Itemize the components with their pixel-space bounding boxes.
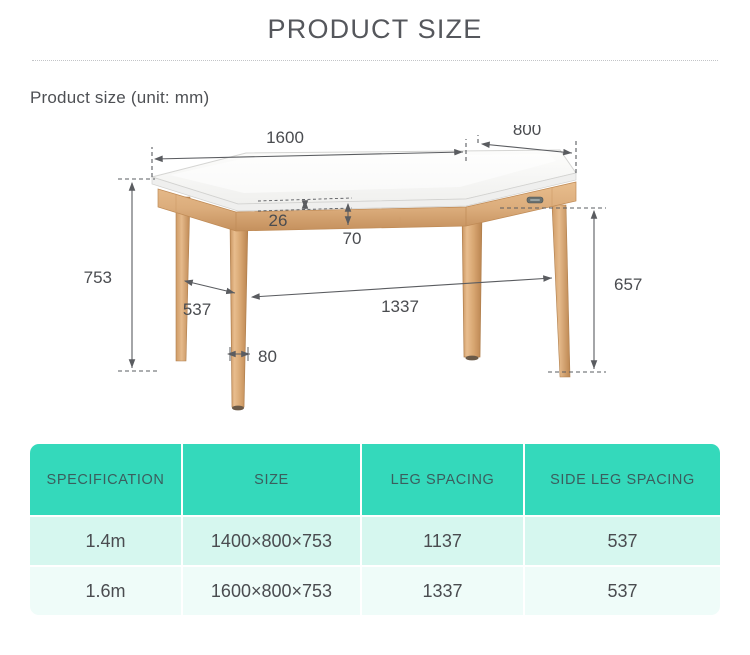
title-divider [32, 60, 718, 61]
cell-leg-spacing: 1337 [362, 565, 525, 615]
cell-size: 1400×800×753 [183, 515, 362, 565]
dim-top-depth: 800 [513, 125, 541, 139]
dining-table-dimension-drawing: 1600 800 753 657 26 70 537 1337 80 [0, 125, 750, 425]
column-header-specification: SPECIFICATION [30, 444, 183, 515]
product-size-page: PRODUCT SIZE Product size (unit: mm) [0, 0, 750, 655]
cell-leg-spacing: 1137 [362, 515, 525, 565]
dim-apron-thickness: 26 [269, 211, 288, 230]
column-header-side-leg-spacing: SIDE LEG SPACING [525, 444, 720, 515]
table-row: 1.6m 1600×800×753 1337 537 [30, 565, 720, 615]
dim-top-length: 1600 [266, 128, 304, 147]
dim-apron-height: 70 [343, 229, 362, 248]
cell-side-leg-spacing: 537 [525, 515, 720, 565]
table-header-row: SPECIFICATION SIZE LEG SPACING SIDE LEG … [30, 444, 720, 515]
column-header-leg-spacing: LEG SPACING [362, 444, 525, 515]
apron-hardware-icon [527, 197, 543, 203]
dim-leg-spacing: 1337 [381, 297, 419, 316]
column-header-size: SIZE [183, 444, 362, 515]
cell-side-leg-spacing: 537 [525, 565, 720, 615]
cell-specification: 1.4m [30, 515, 183, 565]
subtitle-unit-note: Product size (unit: mm) [30, 88, 209, 108]
cell-specification: 1.6m [30, 565, 183, 615]
dim-leg-width: 80 [258, 347, 277, 366]
table-row: 1.4m 1400×800×753 1137 537 [30, 515, 720, 565]
page-title: PRODUCT SIZE [0, 14, 750, 45]
dim-total-height: 753 [84, 268, 112, 287]
dim-side-height: 657 [614, 275, 642, 294]
specification-table: SPECIFICATION SIZE LEG SPACING SIDE LEG … [30, 444, 720, 615]
dim-side-leg-spacing: 537 [183, 300, 211, 319]
cell-size: 1600×800×753 [183, 565, 362, 615]
